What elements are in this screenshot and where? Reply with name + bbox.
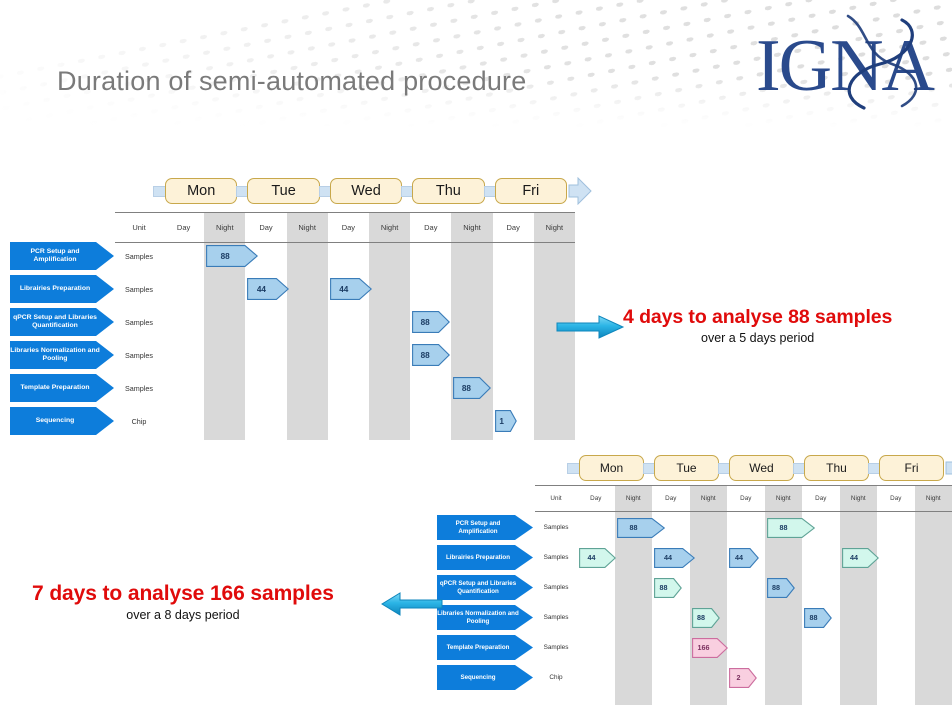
column-header-day: Day [577, 485, 615, 511]
svg-text:IGNA: IGNA [756, 25, 935, 107]
column-header-day: Day [493, 212, 534, 242]
bar-value: 1 [495, 417, 509, 426]
arrow-right-icon [555, 315, 625, 339]
bar-value: 44 [330, 285, 358, 294]
igna-logo: IGNA [752, 12, 942, 114]
gantt-bar[interactable]: 88 [412, 344, 450, 366]
callout-bottom-headline: 7 days to analyse 166 samples [32, 582, 334, 606]
gantt-bar[interactable]: 88 [412, 311, 450, 333]
igna-logo-mark: IGNA [752, 12, 942, 114]
gantt-bar[interactable]: 44 [729, 548, 759, 568]
day-chip-fri[interactable]: Fri [879, 455, 944, 481]
day-chip-fri[interactable]: Fri [495, 178, 567, 204]
process-step-label[interactable]: Librairies Preparation [437, 545, 533, 570]
day-chip-tue[interactable]: Tue [654, 455, 719, 481]
arrow-left-icon [380, 592, 444, 616]
column-header-night: Night [690, 485, 728, 511]
column-header-day: Day [245, 212, 286, 242]
bar-value: 44 [729, 553, 749, 562]
column-header-night: Night [451, 212, 492, 242]
gantt-chart-top: MonTueWedThuFri UnitDayNightDayNightDayN… [115, 178, 575, 448]
timeline-arrowhead-icon [568, 177, 592, 210]
process-step-text: Template Preparation [437, 644, 519, 651]
gantt-bar[interactable]: 44 [247, 278, 289, 300]
process-step-text: Template Preparation [10, 384, 100, 392]
bar-value: 88 [206, 252, 244, 261]
day-chip-mon[interactable]: Mon [579, 455, 644, 481]
process-step-text: Librairies Preparation [10, 285, 100, 293]
process-step-text: qPCR Setup and Libraries Quantification [437, 580, 519, 595]
bar-value: 88 [412, 318, 438, 327]
unit-cell: Samples [115, 242, 163, 270]
process-step-text: Sequencing [437, 674, 519, 681]
gantt-bar[interactable]: 1 [495, 410, 517, 432]
gantt-bar[interactable]: 166 [692, 638, 728, 658]
callout-top: 4 days to analyse 88 samples over a 5 da… [555, 306, 892, 345]
gantt-bar[interactable]: 88 [767, 578, 795, 598]
process-step-label[interactable]: PCR Setup and Amplification [437, 515, 533, 540]
column-header-day: Day [802, 485, 840, 511]
unit-cell: Samples [115, 275, 163, 303]
column-header-unit: Unit [535, 485, 577, 511]
column-header-night: Night [915, 485, 952, 511]
gantt-bar[interactable]: 88 [654, 578, 682, 598]
day-chip-thu[interactable]: Thu [804, 455, 869, 481]
column-header-day: Day [727, 485, 765, 511]
column-header-night: Night [534, 212, 575, 242]
gantt-chart-bottom: MonTueWedThuFri UnitDayNightDayNightDayN… [535, 455, 952, 713]
day-header-bar: MonTueWedThuFri [535, 455, 952, 481]
process-step-label[interactable]: Template Preparation [437, 635, 533, 660]
bar-value: 88 [692, 613, 711, 622]
bar-value: 166 [692, 643, 716, 652]
process-step-text: PCR Setup and Amplification [437, 520, 519, 535]
unit-cell: Chip [115, 407, 163, 435]
unit-cell: Samples [535, 605, 577, 630]
night-column [369, 212, 410, 440]
column-header-night: Night [204, 212, 245, 242]
gantt-bar[interactable]: 88 [206, 245, 258, 267]
process-step-label[interactable]: Libraries Normalization and Pooling [437, 605, 533, 630]
process-step-text: Librairies Preparation [437, 554, 519, 561]
gantt-bar[interactable]: 44 [654, 548, 695, 568]
gantt-bar[interactable]: 88 [692, 608, 720, 628]
night-column [690, 485, 728, 705]
process-step-text: Sequencing [10, 417, 100, 425]
process-step-text: qPCR Setup and Libraries Quantification [10, 314, 100, 330]
gantt-bar[interactable]: 44 [579, 548, 616, 568]
process-step-label[interactable]: Sequencing [10, 407, 114, 435]
header-rule [535, 511, 952, 512]
day-header-bar: MonTueWedThuFri [115, 178, 575, 204]
unit-cell: Samples [115, 341, 163, 369]
callout-bottom-subline: over a 8 days period [32, 608, 334, 622]
column-header-night: Night [840, 485, 878, 511]
unit-cell: Samples [115, 374, 163, 402]
day-chip-thu[interactable]: Thu [412, 178, 484, 204]
bar-value: 88 [412, 351, 438, 360]
callout-top-headline: 4 days to analyse 88 samples [623, 306, 892, 329]
process-step-label[interactable]: Template Preparation [10, 374, 114, 402]
gantt-bar[interactable]: 44 [842, 548, 879, 568]
gantt-bar[interactable]: 88 [767, 518, 815, 538]
callout-top-subline: over a 5 days period [623, 331, 892, 345]
callout-bottom: 7 days to analyse 166 samples over a 8 d… [32, 582, 334, 622]
bar-value: 88 [654, 583, 673, 592]
process-step-label[interactable]: qPCR Setup and Libraries Quantification [437, 575, 533, 600]
column-header-night: Night [369, 212, 410, 242]
process-step-label[interactable]: Libraries Normalization and Pooling [10, 341, 114, 369]
bar-value: 44 [247, 285, 275, 294]
process-step-label[interactable]: qPCR Setup and Libraries Quantification [10, 308, 114, 336]
day-chip-tue[interactable]: Tue [247, 178, 319, 204]
gantt-bar[interactable]: 2 [729, 668, 757, 688]
gantt-bar[interactable]: 44 [330, 278, 372, 300]
unit-cell: Chip [535, 665, 577, 690]
column-header-unit: Unit [115, 212, 163, 242]
gantt-bar[interactable]: 88 [453, 377, 491, 399]
night-column [451, 212, 492, 440]
page-title: Duration of semi-automated procedure [57, 66, 526, 97]
gantt-bar[interactable]: 88 [617, 518, 665, 538]
column-header-day: Day [410, 212, 451, 242]
bar-value: 88 [453, 384, 479, 393]
column-header-day: Day [877, 485, 915, 511]
bar-value: 2 [729, 673, 748, 682]
day-chip-wed[interactable]: Wed [330, 178, 402, 204]
process-step-label[interactable]: PCR Setup and Amplification [10, 242, 114, 270]
unit-cell: Samples [115, 308, 163, 336]
process-step-label[interactable]: Sequencing [437, 665, 533, 690]
column-header-night: Night [765, 485, 803, 511]
column-header-night: Night [287, 212, 328, 242]
bar-value: 44 [842, 553, 867, 562]
day-chip-mon[interactable]: Mon [165, 178, 237, 204]
bar-value: 88 [767, 523, 801, 532]
column-header-day: Day [328, 212, 369, 242]
unit-cell: Samples [535, 515, 577, 540]
night-column [915, 485, 952, 705]
column-header-night: Night [615, 485, 653, 511]
column-header-day: Day [652, 485, 690, 511]
process-step-text: PCR Setup and Amplification [10, 248, 100, 264]
day-chip-wed[interactable]: Wed [729, 455, 794, 481]
bar-value: 88 [804, 613, 823, 622]
bar-value: 88 [767, 583, 786, 592]
unit-cell: Samples [535, 635, 577, 660]
process-step-text: Libraries Normalization and Pooling [10, 347, 100, 363]
unit-cell: Samples [535, 575, 577, 600]
night-column [287, 212, 328, 440]
process-step-label[interactable]: Librairies Preparation [10, 275, 114, 303]
night-column [840, 485, 878, 705]
timeline-arrowhead-icon [945, 454, 952, 487]
bar-value: 44 [579, 553, 604, 562]
unit-cell: Samples [535, 545, 577, 570]
bar-value: 44 [654, 553, 682, 562]
process-step-text: Libraries Normalization and Pooling [437, 610, 519, 625]
bar-value: 88 [617, 523, 651, 532]
column-header-day: Day [163, 212, 204, 242]
header-rule [115, 242, 575, 243]
gantt-bar[interactable]: 88 [804, 608, 832, 628]
